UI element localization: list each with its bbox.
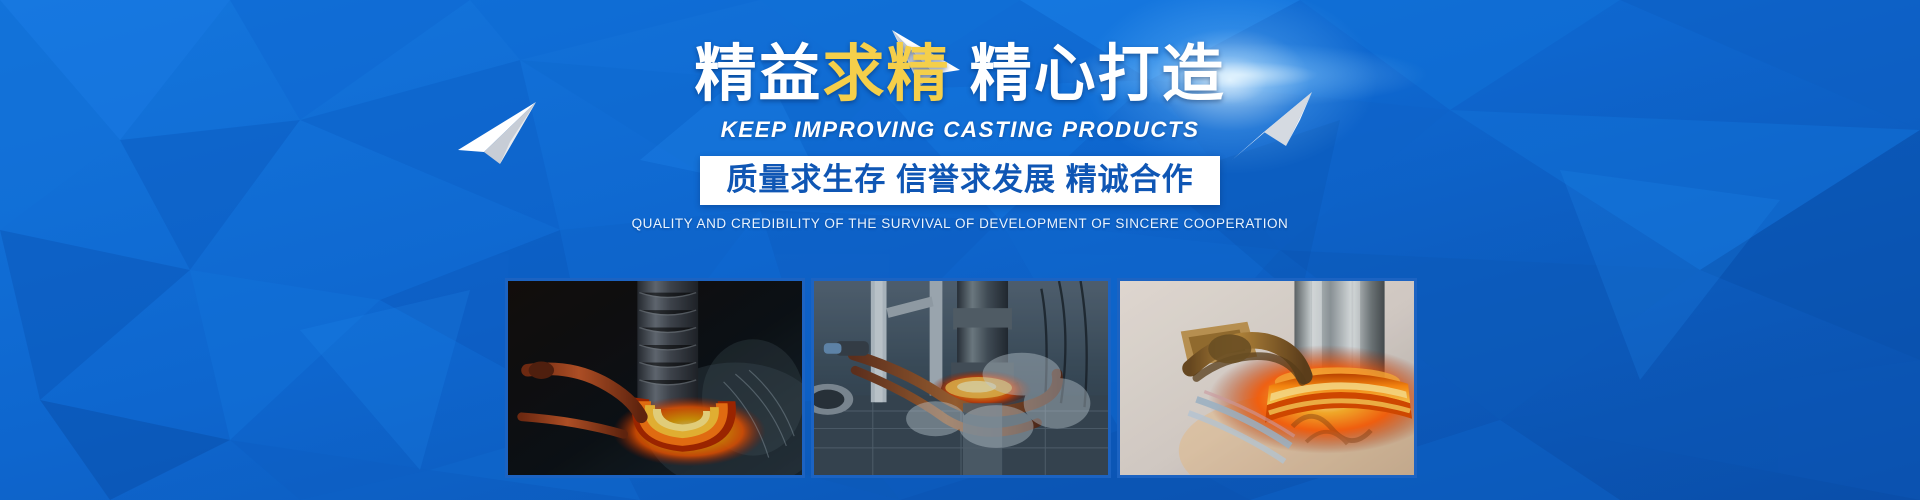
photo-induction-heating-shaft — [505, 278, 805, 478]
photo-induction-hardening-camshaft — [811, 278, 1111, 478]
slogan-ribbon: 质量求生存 信誉求发展 精诚合作 — [700, 156, 1219, 205]
subtitle-english: KEEP IMPROVING CASTING PRODUCTS — [0, 117, 1920, 143]
ribbon-wrapper: 质量求生存 信誉求发展 精诚合作 — [0, 156, 1920, 205]
slogan-ribbon-text: 质量求生存 信誉求发展 精诚合作 — [726, 161, 1193, 198]
photo-strip — [505, 278, 1417, 478]
caption-english: QUALITY AND CREDIBILITY OF THE SURVIVAL … — [0, 216, 1920, 231]
banner-text-block: 精益求精 精心打造 KEEP IMPROVING CASTING PRODUCT… — [0, 38, 1920, 231]
headline-part-1: 精益 — [694, 40, 822, 109]
page-title: 精益求精 精心打造 — [0, 38, 1920, 111]
hero-banner: 精益求精 精心打造 KEEP IMPROVING CASTING PRODUCT… — [0, 0, 1920, 500]
headline-accent: 求精 — [822, 40, 950, 109]
photo-induction-coil-cylinder — [1117, 278, 1417, 478]
headline-part-2: 精心打造 — [950, 40, 1225, 109]
